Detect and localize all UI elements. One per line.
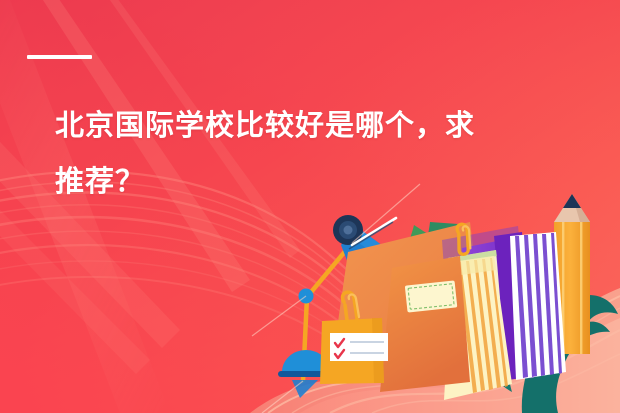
page-title: 北京国际学校比较好是哪个，求 推荐？ <box>55 98 575 210</box>
banner-canvas: 北京国际学校比较好是哪个，求 推荐？ <box>0 0 620 413</box>
title-line-1: 北京国际学校比较好是哪个，求 <box>55 98 575 154</box>
orange-notebook <box>380 256 470 392</box>
notebook-label <box>405 280 458 312</box>
title-line-2: 推荐？ <box>55 154 575 210</box>
lamp-head-inner <box>344 226 353 235</box>
title-underline-rule <box>27 55 92 59</box>
blue-triangle-accent <box>292 380 318 398</box>
